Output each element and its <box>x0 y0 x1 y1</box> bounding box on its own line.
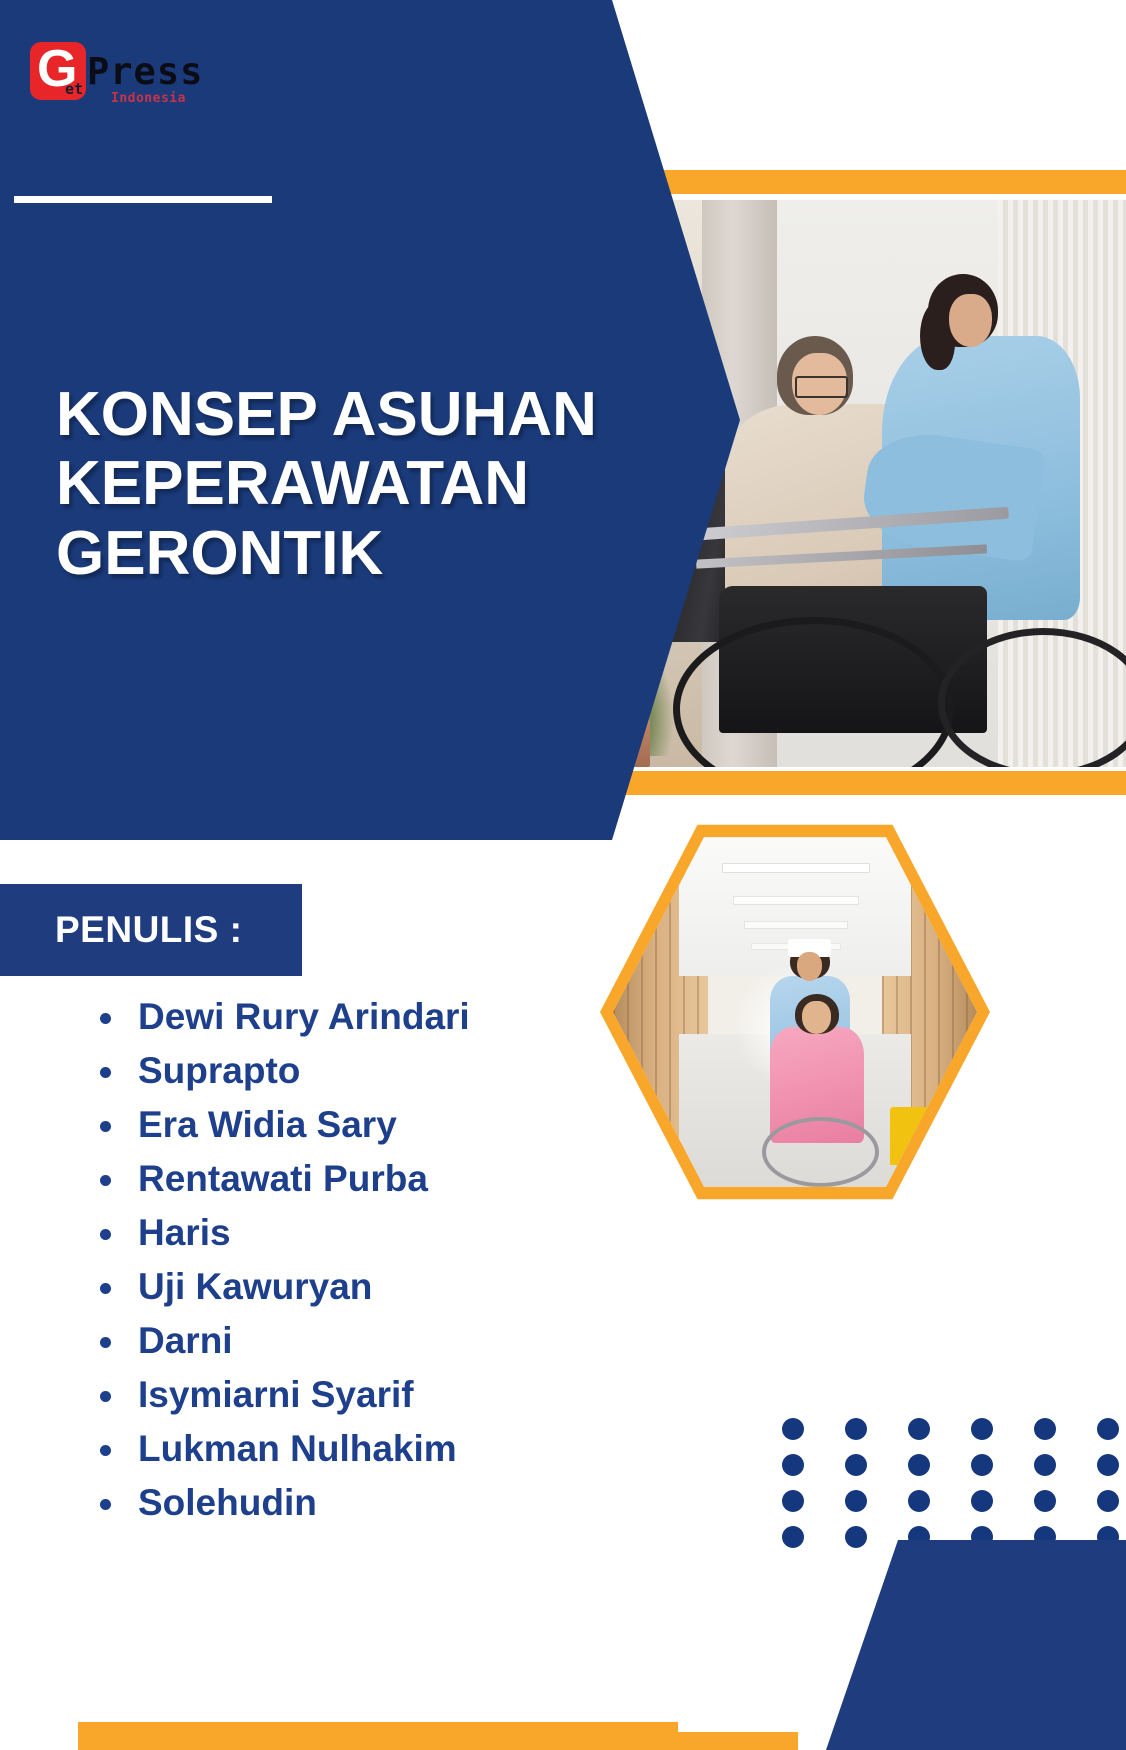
title-line-3: GERONTIK <box>56 519 676 588</box>
list-item: Lukman Nulhakim <box>86 1422 646 1476</box>
hex-ceiling-light-2 <box>733 896 859 905</box>
list-item: Uji Kawuryan <box>86 1260 646 1314</box>
list-item: Solehudin <box>86 1476 646 1530</box>
dot <box>845 1490 867 1512</box>
dot <box>782 1454 804 1476</box>
dot <box>1034 1490 1056 1512</box>
bottom-orange-step <box>678 1732 798 1750</box>
list-item: Era Widia Sary <box>86 1098 646 1152</box>
bottom-navy-wedge <box>826 1540 1126 1750</box>
hex-nurse-face <box>797 952 822 981</box>
publisher-logo: G et Press Indonesia <box>30 42 203 106</box>
list-item: Isymiarni Syarif <box>86 1368 646 1422</box>
title-line-1: KONSEP ASUHAN <box>56 380 676 449</box>
logo-word-press: Press <box>87 54 203 89</box>
list-item: Darni <box>86 1314 646 1368</box>
list-item: Suprapto <box>86 1044 646 1098</box>
dot <box>782 1418 804 1440</box>
logo-badge-icon: G et <box>30 42 86 100</box>
dot <box>845 1418 867 1440</box>
hex-wheelchair-wheel <box>762 1117 879 1187</box>
dot <box>908 1418 930 1440</box>
dot <box>908 1490 930 1512</box>
logo-letter-et: et <box>65 80 83 98</box>
hex-ceiling-light-3 <box>744 921 848 929</box>
list-item: Rentawati Purba <box>86 1152 646 1206</box>
dot <box>845 1454 867 1476</box>
dot <box>971 1490 993 1512</box>
page-title: KONSEP ASUHAN KEPERAWATAN GERONTIK <box>56 380 676 588</box>
book-cover: G et Press Indonesia KONSEP ASUHAN KEPER… <box>0 0 1126 1750</box>
hex-patient-face <box>802 1001 831 1034</box>
dot <box>1097 1490 1119 1512</box>
dot <box>971 1418 993 1440</box>
bottom-orange-bar <box>78 1722 678 1750</box>
dot <box>971 1454 993 1476</box>
dot <box>908 1454 930 1476</box>
title-line-2: KEPERAWATAN <box>56 449 676 518</box>
dot <box>782 1526 804 1548</box>
dot <box>1034 1454 1056 1476</box>
authors-label-banner: PENULIS : <box>0 884 302 976</box>
list-item: Haris <box>86 1206 646 1260</box>
photo-eyeglasses <box>795 376 848 398</box>
header-divider <box>14 196 272 203</box>
logo-word-indonesia: Indonesia <box>111 91 203 106</box>
logo-wordmark: Press Indonesia <box>87 42 203 106</box>
top-photo-orange-top-bar <box>623 170 1126 194</box>
authors-label-text: PENULIS : <box>55 909 242 951</box>
top-photo-orange-bottom-bar <box>545 771 1126 795</box>
dot <box>1034 1418 1056 1440</box>
hexagon-photo-frame <box>600 817 990 1207</box>
hex-ceiling-light-1 <box>722 863 870 873</box>
dot <box>1097 1454 1119 1476</box>
dot <box>782 1490 804 1512</box>
list-item: Dewi Rury Arindari <box>86 990 646 1044</box>
authors-list: Dewi Rury Arindari Suprapto Era Widia Sa… <box>86 990 646 1530</box>
dot <box>1097 1418 1119 1440</box>
dot <box>845 1526 867 1548</box>
